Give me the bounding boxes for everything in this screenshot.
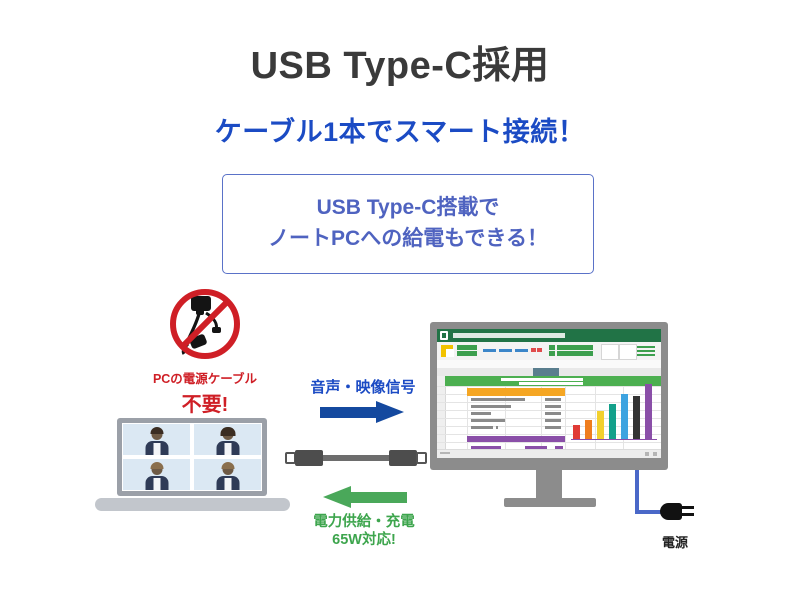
laptop-base [95,498,290,511]
video-signal-label: 音声・映像信号 [288,376,438,397]
video-call-grid [122,423,262,491]
laptop-screen [117,418,267,496]
spreadsheet-header-row [467,388,541,396]
monitor-stand [504,498,596,507]
power-signal-group: 電力供給・充電 65W対応! [284,482,444,549]
spreadsheet-status-bar [437,449,661,458]
power-signal-label-2: 65W対応! [284,531,444,549]
no-power-cable-label-large: 不要! [140,388,270,417]
spreadsheet-toolbar [437,342,661,361]
prohibition-power-adapter-icon [166,288,244,364]
page-title: USB Type-C採用 [0,34,800,89]
usb-c-cable [285,448,427,468]
usb-c-connector-right [416,452,427,464]
video-participant-1 [122,423,191,456]
chart-bar-3 [597,411,604,439]
callout-line-2: ノートPCへの給電もできる！ [268,227,548,252]
chart-bar-1 [573,425,580,439]
laptop-video-conference [95,418,290,516]
spreadsheet-bar-chart [571,378,657,440]
spreadsheet-row-gutter [437,376,446,450]
spreadsheet-summary-row [467,436,541,442]
feature-callout-box: USB Type-C搭載で ノートPCへの給電もできる！ [222,174,594,274]
spreadsheet-app [437,329,661,458]
power-source-label: 電源 [620,532,730,551]
no-power-cable-label-small: PCの電源ケーブル [140,368,270,387]
desktop-monitor [430,322,668,512]
video-participant-3 [122,458,191,491]
power-signal-label-1: 電力供給・充電 [284,513,444,531]
video-participant-4 [193,458,262,491]
page-subtitle: ケーブル1本でスマート接続！ [0,110,800,149]
callout-line-1: USB Type-C搭載で [317,196,500,221]
power-plug-icon [660,500,694,522]
infographic-canvas: USB Type-C採用 ケーブル1本でスマート接続！ USB Type-C搭載… [0,0,800,600]
no-power-cable-badge: PCの電源ケーブル 不要! [140,288,270,417]
monitor-bezel [430,322,668,470]
chart-bar-6 [633,396,640,438]
arrow-left-icon [321,486,407,508]
spreadsheet-app-icon [440,331,448,340]
monitor-screen [437,329,661,458]
chart-bar-5 [621,394,628,439]
video-participant-2 [193,423,262,456]
spreadsheet-title-bar [437,329,661,342]
spreadsheet-grid [437,376,661,450]
video-signal-group: 音声・映像信号 [288,376,438,423]
chart-bar-4 [609,404,616,439]
arrow-right-icon [320,401,406,423]
chart-bar-2 [585,420,592,439]
chart-bar-7 [645,384,652,439]
